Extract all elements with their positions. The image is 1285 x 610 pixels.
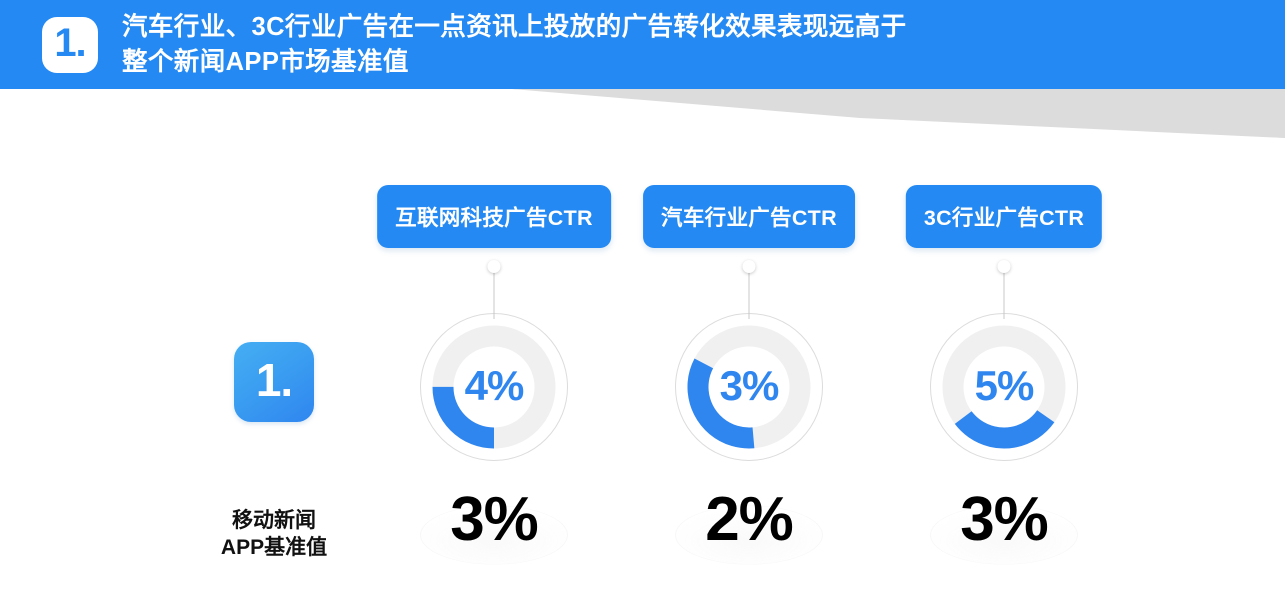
- baseline-number-tile: 1.: [234, 342, 314, 422]
- baseline-big-number: 3%: [876, 489, 1132, 551]
- metric-chip[interactable]: 3C行业广告CTR: [906, 185, 1102, 248]
- slide-header: 1. 汽车行业、3C行业广告在一点资讯上投放的广告转化效果表现远高于 整个新闻A…: [0, 0, 1285, 89]
- slide-body: 1. 移动新闻 APP基准值 互联网科技广告CTR 4% 3% 汽车行业广告CT…: [0, 89, 1285, 610]
- donut-value-text: 4%: [420, 313, 568, 461]
- donut-chart: 3%: [675, 313, 823, 461]
- page-title-line-1: 汽车行业、3C行业广告在一点资讯上投放的广告转化效果表现远高于: [122, 10, 907, 45]
- baseline-big-number: 3%: [366, 489, 622, 551]
- page-title-line-2: 整个新闻APP市场基准值: [122, 45, 907, 80]
- baseline-label: 移动新闻 APP基准值: [174, 507, 374, 561]
- chip-connector-line: [1004, 267, 1005, 319]
- donut-value-text: 5%: [930, 313, 1078, 461]
- chip-connector-line: [494, 267, 495, 319]
- chip-connector-dot: [488, 260, 501, 273]
- baseline-label-line-2: APP基准值: [174, 534, 374, 561]
- page-title: 汽车行业、3C行业广告在一点资讯上投放的广告转化效果表现远高于 整个新闻APP市…: [122, 10, 907, 80]
- metric-chip[interactable]: 互联网科技广告CTR: [377, 185, 611, 248]
- baseline-label-line-1: 移动新闻: [174, 507, 374, 534]
- donut-chart: 4%: [420, 313, 568, 461]
- donut-chart: 5%: [930, 313, 1078, 461]
- donut-value-text: 3%: [675, 313, 823, 461]
- chip-connector-dot: [998, 260, 1011, 273]
- chip-connector-line: [749, 267, 750, 319]
- baseline-big-number: 2%: [621, 489, 877, 551]
- metric-chip[interactable]: 汽车行业广告CTR: [643, 185, 855, 248]
- chip-connector-dot: [743, 260, 756, 273]
- header-number-badge: 1.: [42, 17, 98, 73]
